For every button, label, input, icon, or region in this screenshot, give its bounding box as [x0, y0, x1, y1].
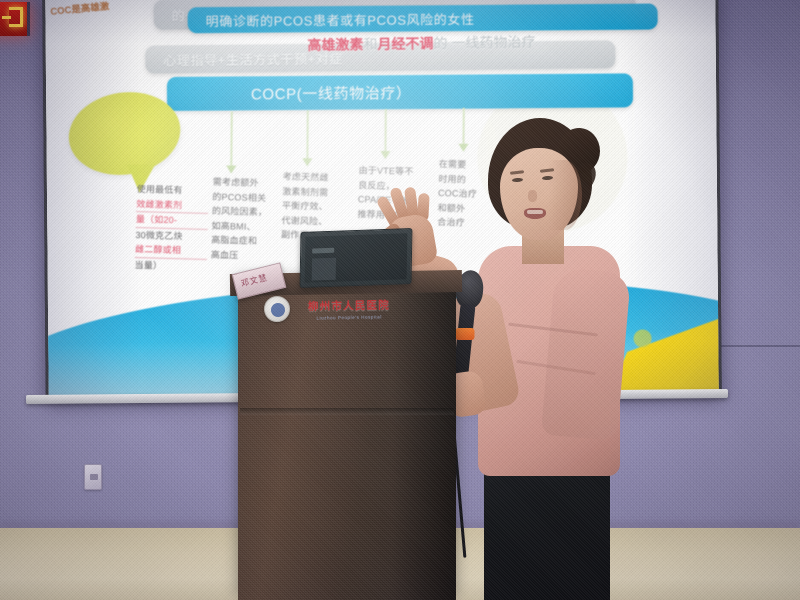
podium-branding: 柳州市人民医院 Liuzhou People's Hospital: [294, 297, 404, 321]
connector-line-3: [385, 109, 387, 153]
connector-line-1: [231, 112, 233, 168]
lectern-podium: 柳州市人民医院 Liuzhou People's Hospital 邓文慧: [238, 282, 456, 600]
slide-speech-bubble-text: COC是高雄激 素和不调性月经 的一线治疗药物: [50, 0, 148, 50]
mouth: [524, 208, 546, 219]
podium-shadow: [392, 282, 456, 600]
presenter-sleeve: [541, 267, 631, 441]
connector-arrow-1: [226, 166, 236, 174]
laptop-screen: [305, 233, 408, 283]
col2-line-6: 高血压: [211, 247, 283, 263]
slide-column-dose: 使用最低有 效雌激素剂 量（如20- 30微克乙炔 雌二醇或相 当量）: [135, 182, 209, 274]
microphone-orange-band: [455, 328, 474, 340]
slide-red-emphasis-1: 高雄激素: [308, 36, 364, 53]
female-presenter: [430, 118, 660, 600]
connector-arrow-2: [303, 158, 313, 166]
laptop-logo: [312, 248, 334, 254]
podium-ledge: [240, 408, 454, 415]
col3-line-3: 平衡疗效、: [282, 198, 354, 214]
slide-red-emphasis: 高雄激素和月经不调的 一线药物治疗: [308, 32, 536, 55]
slide-bar-cocp-text: COCP(一线药物治疗）: [251, 82, 412, 104]
col3-line-1: 考虑天然雌: [283, 169, 355, 185]
col2-line-1: 需考虑额外: [213, 175, 285, 191]
lecture-photo-scene: 的一线药物治疗 明确诊断的PCOS患者或有PCOS风险的女性 心理指导+生活方式…: [0, 0, 800, 600]
connector-line-2: [307, 110, 309, 160]
slide-bar-indication: 明确诊断的PCOS患者或有PCOS风险的女性: [188, 4, 658, 34]
col1-line-6: 当量）: [135, 258, 207, 274]
col1-line-1: 使用最低有: [137, 182, 209, 198]
speaker-name-card-text: 邓文慧: [240, 272, 269, 289]
presenter-laptop[interactable]: [300, 228, 413, 288]
col1-line-5: 雌二醇或相: [135, 242, 207, 259]
exit-sign-glyph: [9, 7, 23, 27]
slide-red-emphasis-2: 月经不调: [378, 35, 434, 52]
hospital-name-cn: 柳州市人民医院: [294, 297, 404, 314]
hospital-emblem: [264, 296, 290, 322]
nose: [528, 190, 537, 202]
col1-line-3: 量（如20-: [136, 212, 208, 229]
slide-red-connector: 和: [364, 36, 378, 52]
presenter-skirt: [484, 456, 610, 600]
exit-sign: [0, 2, 30, 36]
col2-line-3: 的风险因素，: [212, 204, 284, 220]
col4-line-1: 由于VTE等不: [359, 163, 431, 179]
wall-power-outlet[interactable]: [84, 464, 102, 490]
slide-bar-cocp: COCP(一线药物治疗）: [167, 73, 633, 111]
connector-arrow-3: [381, 151, 391, 159]
slide-gray-tail: 的 一线药物治疗: [434, 34, 536, 52]
slide-bar-indication-text: 明确诊断的PCOS患者或有PCOS风险的女性: [206, 8, 475, 29]
col2-line-5: 高脂血症和: [211, 233, 283, 249]
slide-column-risk: 需考虑额外 的PCOS相关 的风险因素， 如高BMI、 高脂血症和 高血压: [211, 175, 285, 264]
laptop-screen-panel: [312, 258, 336, 281]
